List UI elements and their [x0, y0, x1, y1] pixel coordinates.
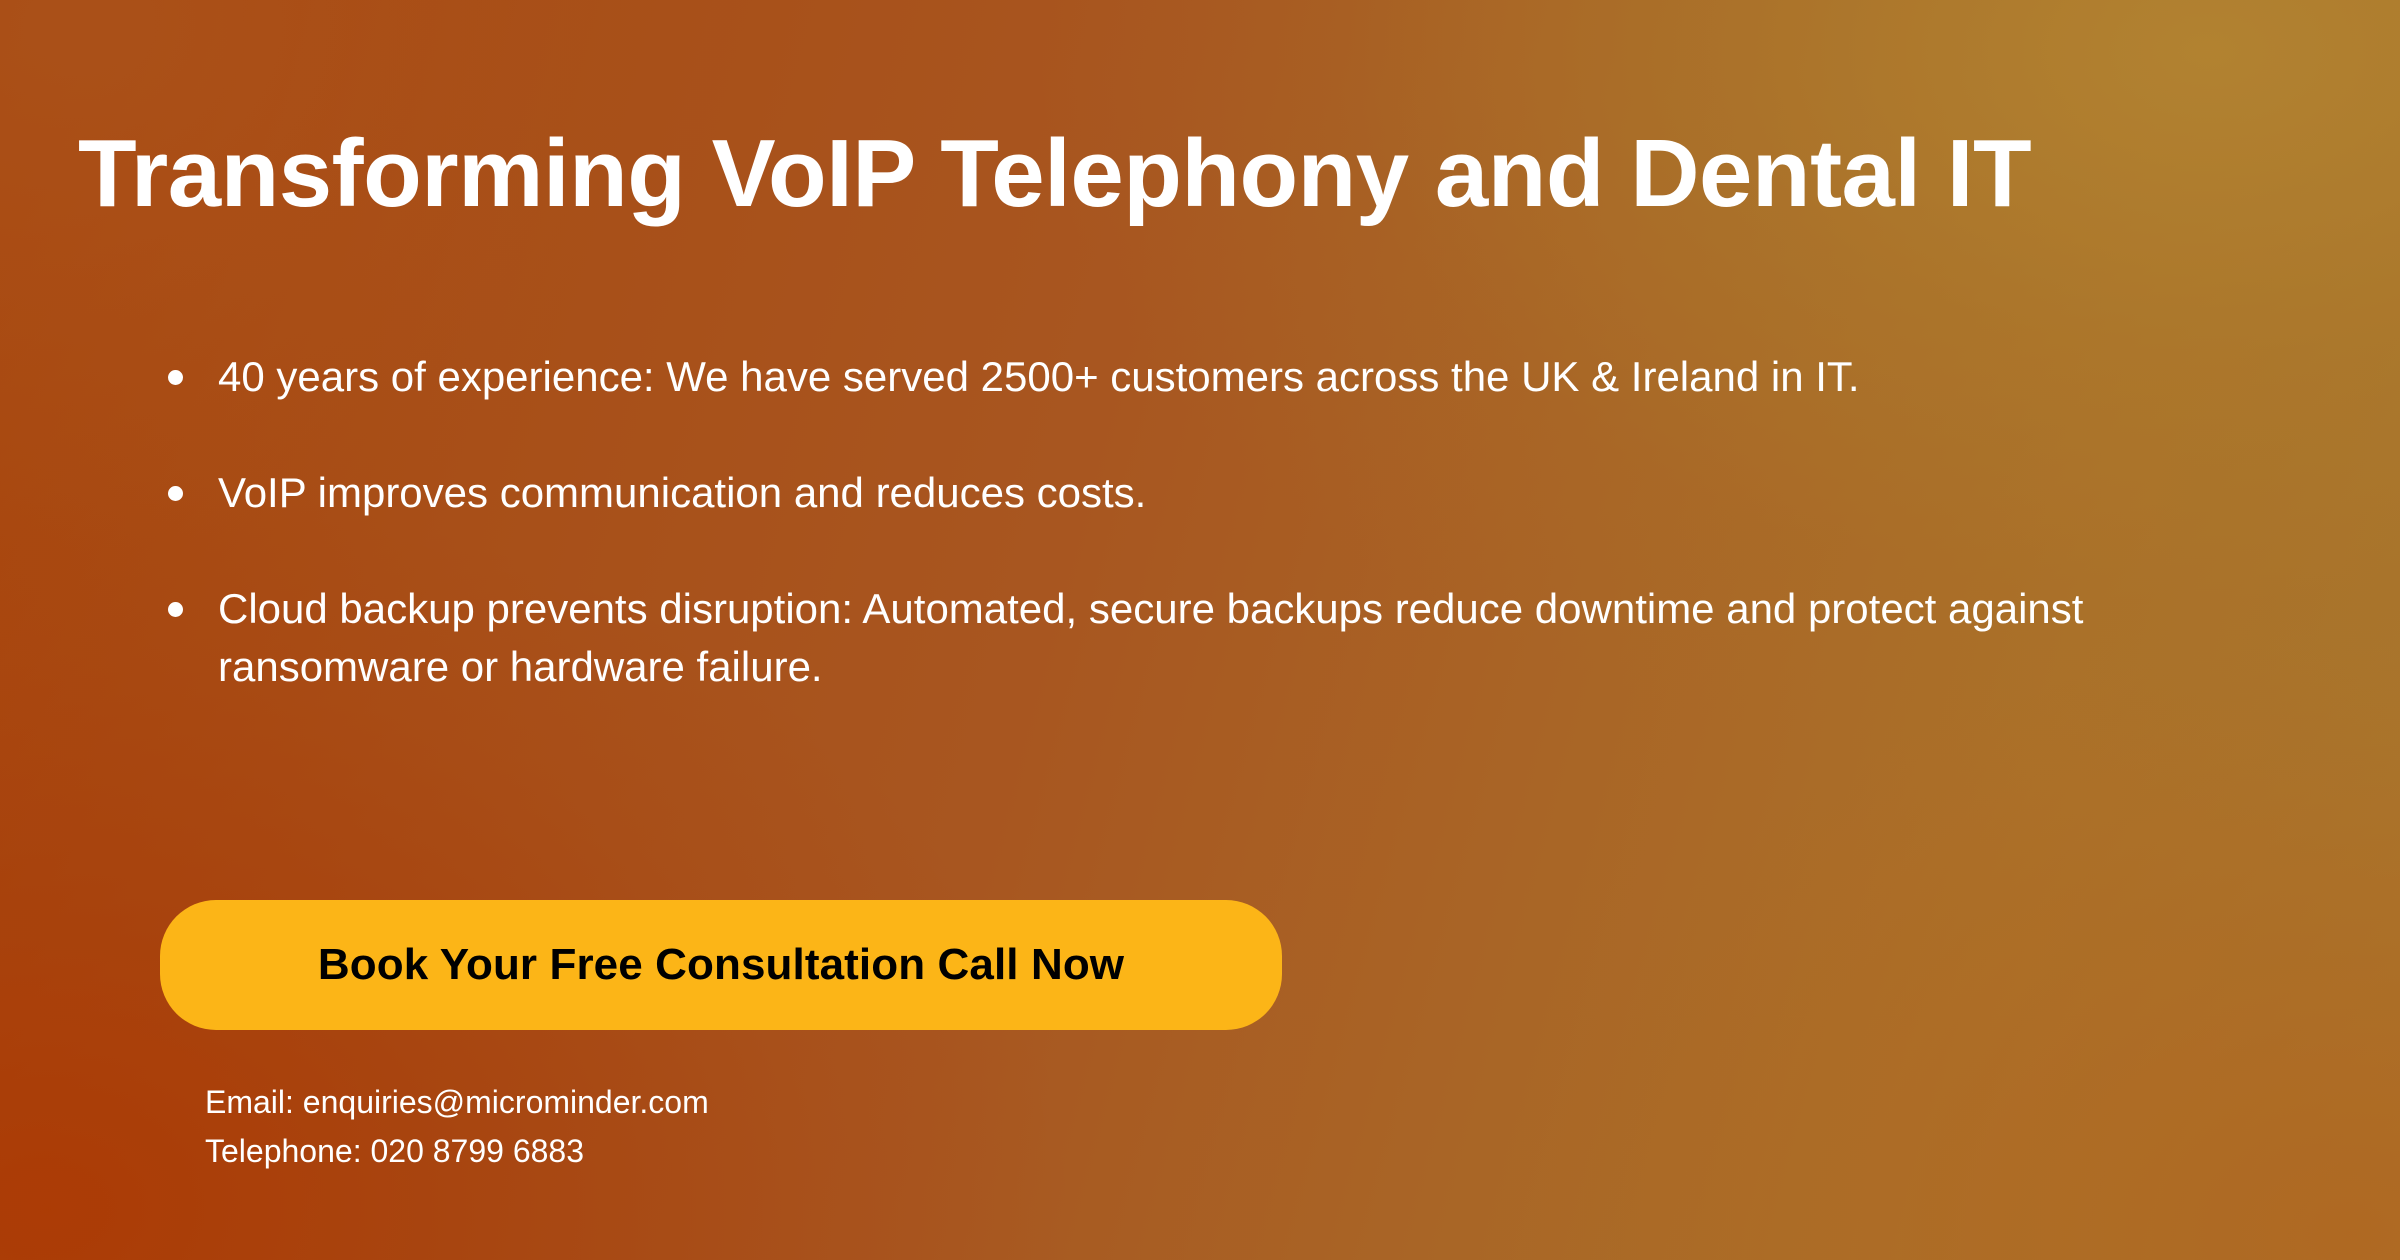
- benefits-list: 40 years of experience: We have served 2…: [160, 348, 2260, 696]
- contact-telephone: Telephone: 020 8799 6883: [205, 1127, 709, 1176]
- list-item: VoIP improves communication and reduces …: [160, 464, 2260, 522]
- contact-email: Email: enquiries@microminder.com: [205, 1078, 709, 1127]
- page-title: Transforming VoIP Telephony and Dental I…: [78, 124, 2338, 224]
- list-item: 40 years of experience: We have served 2…: [160, 348, 2260, 406]
- list-item-label: VoIP improves communication and reduces …: [218, 464, 2260, 522]
- book-consultation-button[interactable]: Book Your Free Consultation Call Now: [160, 900, 1282, 1030]
- slide-content: Transforming VoIP Telephony and Dental I…: [0, 0, 2400, 1260]
- list-item-label: Cloud backup prevents disruption: Automa…: [218, 580, 2260, 696]
- promo-slide: Transforming VoIP Telephony and Dental I…: [0, 0, 2400, 1260]
- list-item: Cloud backup prevents disruption: Automa…: [160, 580, 2260, 696]
- bullet-dot-icon: [168, 370, 183, 385]
- bullet-dot-icon: [168, 486, 183, 501]
- contact-details: Email: enquiries@microminder.com Telepho…: [205, 1078, 709, 1177]
- bullet-dot-icon: [168, 602, 183, 617]
- list-item-label: 40 years of experience: We have served 2…: [218, 348, 2260, 406]
